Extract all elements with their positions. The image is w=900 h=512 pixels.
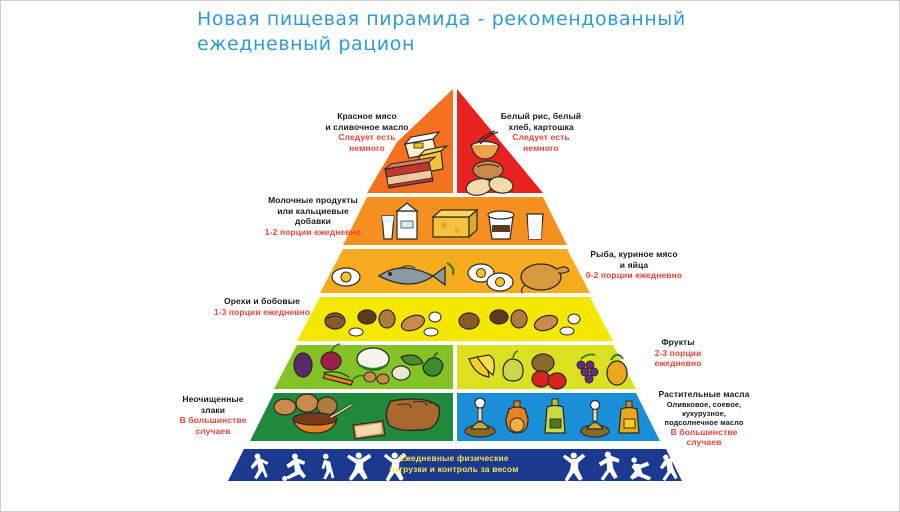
callout-rice-amount-1: Следует есть — [471, 132, 611, 143]
infographic-page: Новая пищевая пирамида - рекомендованный… — [0, 0, 900, 512]
callout-rice-amount-2: немного — [471, 143, 611, 154]
callout-oils-sub-2: кукурузное, — [641, 409, 767, 418]
callout-fruits-amount-2: ежедневно — [623, 358, 733, 369]
callout-dairy: Молочные продукты или кальциевые добавки… — [237, 195, 389, 237]
callout-dairy-line-1: Молочные продукты — [237, 195, 389, 206]
callout-oils-amount-2: случаев — [641, 437, 767, 448]
callout-fruits-line-1: Фрукты — [623, 337, 733, 348]
food-icon-yogurt-cup — [488, 211, 514, 239]
callout-meat-amount-2: немного — [297, 143, 437, 154]
callout-nuts-line-1: Орехи и бобовые — [187, 296, 337, 307]
exercise-band-line-2: нагрузки и контроль за весом — [389, 464, 518, 474]
callout-fruits-amount-1: 2-3 порции — [623, 348, 733, 359]
callout-grains-amount-1: В большинстве — [153, 415, 273, 426]
callout-oils-sub-3: подсолнечное масло — [641, 418, 767, 427]
callout-fish-poultry-eggs: Рыба, куриное мясо и яйца 0-2 порции еже… — [557, 249, 711, 281]
callout-oils-line-1: Растительные масла — [641, 389, 767, 400]
callout-dairy-line-3: добавки — [237, 216, 389, 227]
food-icon-egg — [332, 268, 360, 286]
callout-grains-line-1: Неочищенные — [153, 394, 273, 405]
callout-meat-line-2: и сливочное масло — [297, 122, 437, 133]
callout-grains-amount-2: случаев — [153, 426, 273, 437]
callout-whole-grains: Неочищенные злаки В большинстве случаев — [153, 394, 273, 436]
callout-white-rice-bread: Белый рис, белый хлеб, картошка Следует … — [471, 111, 611, 153]
callout-oils-sub-1: Оливковое, соевое, — [641, 400, 767, 409]
exercise-band-line-1: Ежедневные физические — [399, 453, 509, 463]
callout-nuts-legumes: Орехи и бобовые 1-3 порции ежедневно — [187, 296, 337, 317]
callout-red-meat-butter: Красное мясо и сливочное масло Следует е… — [297, 111, 437, 153]
food-icon-milk-carton — [397, 203, 417, 239]
callout-grains-line-2: злаки — [153, 405, 273, 416]
callout-fish-line-2: и яйца — [557, 260, 711, 271]
food-icon-cheese-wedge — [433, 210, 477, 237]
callout-rice-line-1: Белый рис, белый — [471, 111, 611, 122]
callout-fish-line-1: Рыба, куриное мясо — [557, 249, 711, 260]
callout-oils-amount-1: В большинстве — [641, 427, 767, 438]
callout-vegetable-oils: Растительные масла Оливковое, соевое, ку… — [641, 389, 767, 448]
callout-fish-amount: 0-2 порции ежедневно — [557, 270, 711, 281]
callout-dairy-line-2: или кальциевые — [237, 206, 389, 217]
callout-fruits: Фрукты 2-3 порции ежедневно — [623, 337, 733, 369]
callout-dairy-amount: 1-2 порции ежедневно — [237, 227, 389, 238]
callout-rice-line-2: хлеб, картошка — [471, 122, 611, 133]
callout-meat-line-1: Красное мясо — [297, 111, 437, 122]
callout-meat-amount-1: Следует есть — [297, 132, 437, 143]
food-icon-milk-glass-2 — [527, 214, 543, 239]
callout-nuts-amount: 1-3 порции ежедневно — [187, 307, 337, 318]
exercise-band-text: Ежедневные физические нагрузки и контрол… — [379, 453, 529, 474]
